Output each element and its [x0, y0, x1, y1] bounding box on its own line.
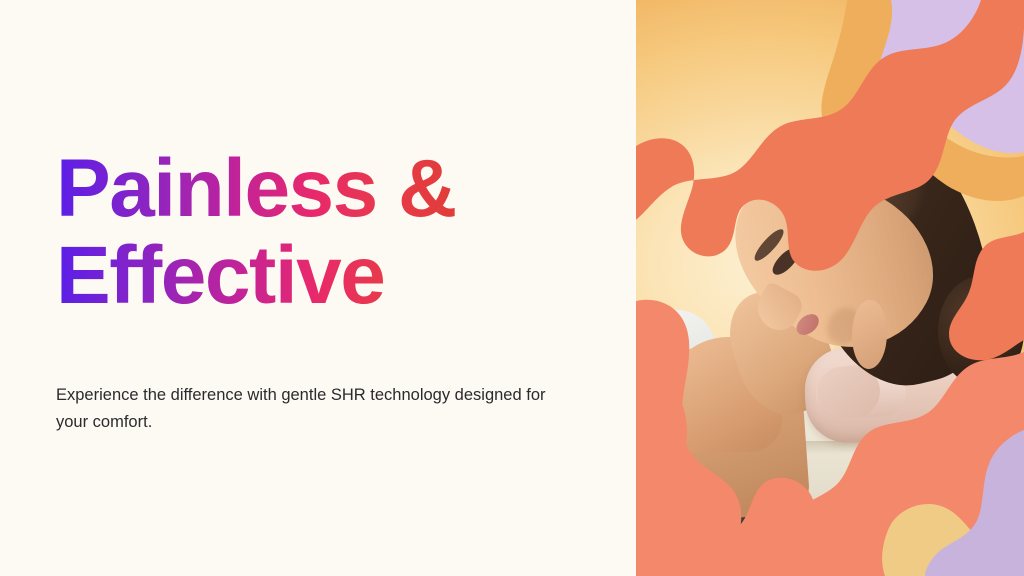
- headline-line-2: Effective: [56, 233, 456, 320]
- subtitle-text: Experience the difference with gentle SH…: [56, 382, 576, 435]
- hero-image-panel: [633, 0, 1024, 576]
- spa-photo: [633, 0, 1024, 576]
- candle-glint: [977, 438, 1000, 467]
- hair-bun: [938, 276, 1024, 385]
- text-panel: Painless & Effective Experience the diff…: [0, 0, 633, 576]
- page-title: Painless & Effective: [56, 146, 456, 320]
- headline-line-1: Painless &: [56, 146, 456, 233]
- slide-root: Painless & Effective Experience the diff…: [0, 0, 1024, 576]
